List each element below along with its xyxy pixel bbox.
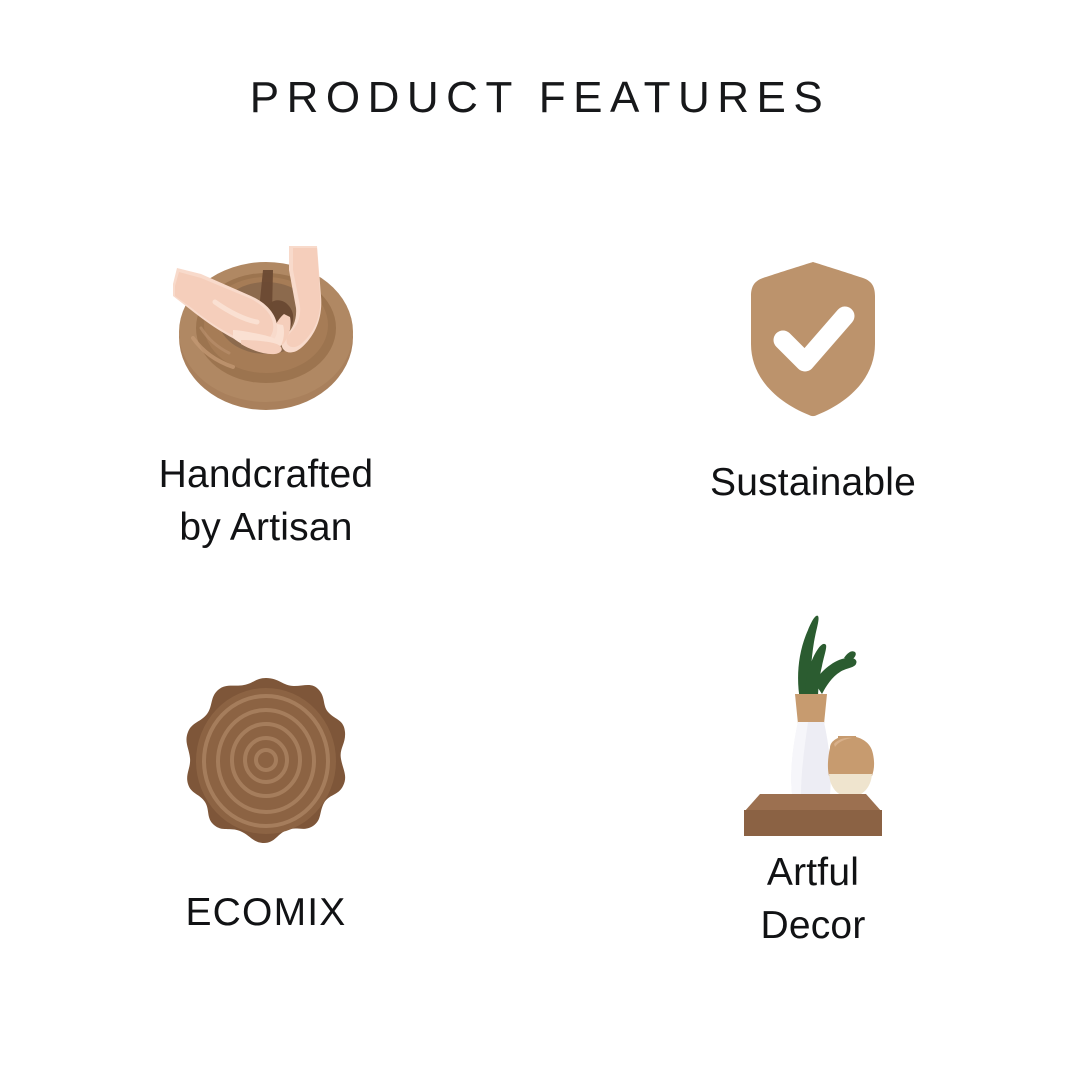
- features-grid: Handcrafted by Artisan Sustainable: [0, 180, 1080, 1000]
- feature-label-ecomix: ECOMIX: [185, 886, 346, 939]
- feature-item-ecomix[interactable]: ECOMIX: [0, 590, 540, 1000]
- feature-label-artful-decor: Artful Decor: [760, 846, 865, 952]
- feature-item-sustainable[interactable]: Sustainable: [540, 180, 1080, 590]
- shield-check-icon: [698, 198, 928, 418]
- feature-item-artful-decor[interactable]: Artful Decor: [540, 590, 1080, 1000]
- feature-label-handcrafted: Handcrafted by Artisan: [159, 448, 374, 554]
- vase-plant-shelf-icon: [698, 606, 928, 826]
- product-features-page: PRODUCT FEATURES: [0, 0, 1080, 1080]
- feature-label-sustainable: Sustainable: [710, 456, 916, 509]
- wood-slice-rings-icon: [151, 626, 381, 846]
- page-title: PRODUCT FEATURES: [0, 74, 1080, 122]
- feature-item-handcrafted[interactable]: Handcrafted by Artisan: [0, 180, 540, 590]
- pottery-wheel-hands-icon: [151, 198, 381, 418]
